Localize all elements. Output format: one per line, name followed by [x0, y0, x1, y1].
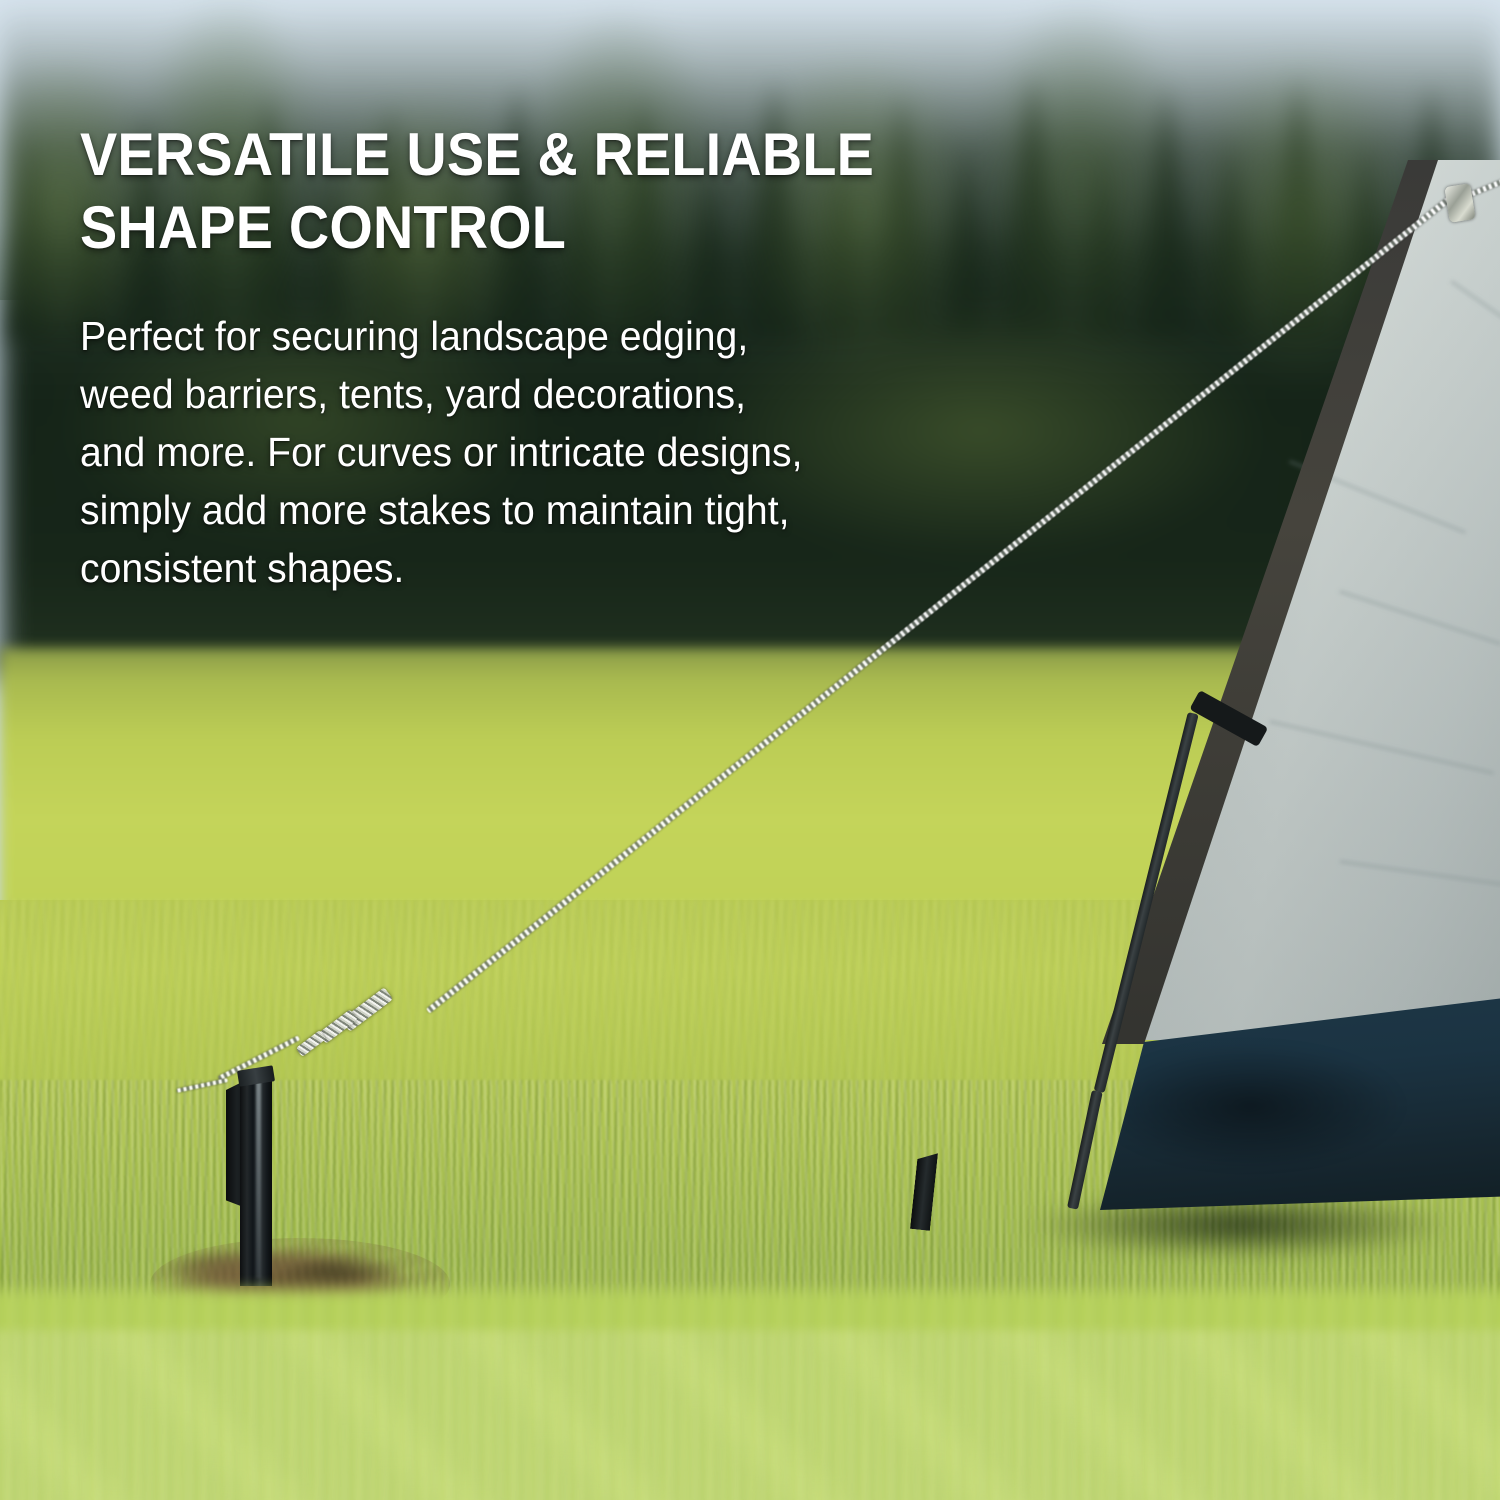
ground-anchor-stake-secondary	[908, 1152, 942, 1230]
foreground-grass-highlights	[0, 1330, 1500, 1500]
stake-secondary-shaft	[910, 1151, 938, 1231]
camping-tent	[1040, 160, 1500, 1240]
page-title: VERSATILE USE & RELIABLE SHAPE CONTROL	[80, 118, 954, 264]
product-lifestyle-banner: VERSATILE USE & RELIABLE SHAPE CONTROL P…	[0, 0, 1500, 1500]
headline-line-2: SHAPE CONTROL	[80, 191, 954, 264]
guy-line-tensioner	[1444, 183, 1475, 223]
stake-highlight	[256, 1078, 261, 1278]
marketing-copy-block: VERSATILE USE & RELIABLE SHAPE CONTROL P…	[80, 118, 1020, 597]
ground-anchor-stake	[226, 1058, 286, 1288]
body-paragraph: Perfect for securing landscape edging, w…	[80, 264, 806, 597]
headline-line-1: VERSATILE USE & RELIABLE	[80, 118, 954, 191]
